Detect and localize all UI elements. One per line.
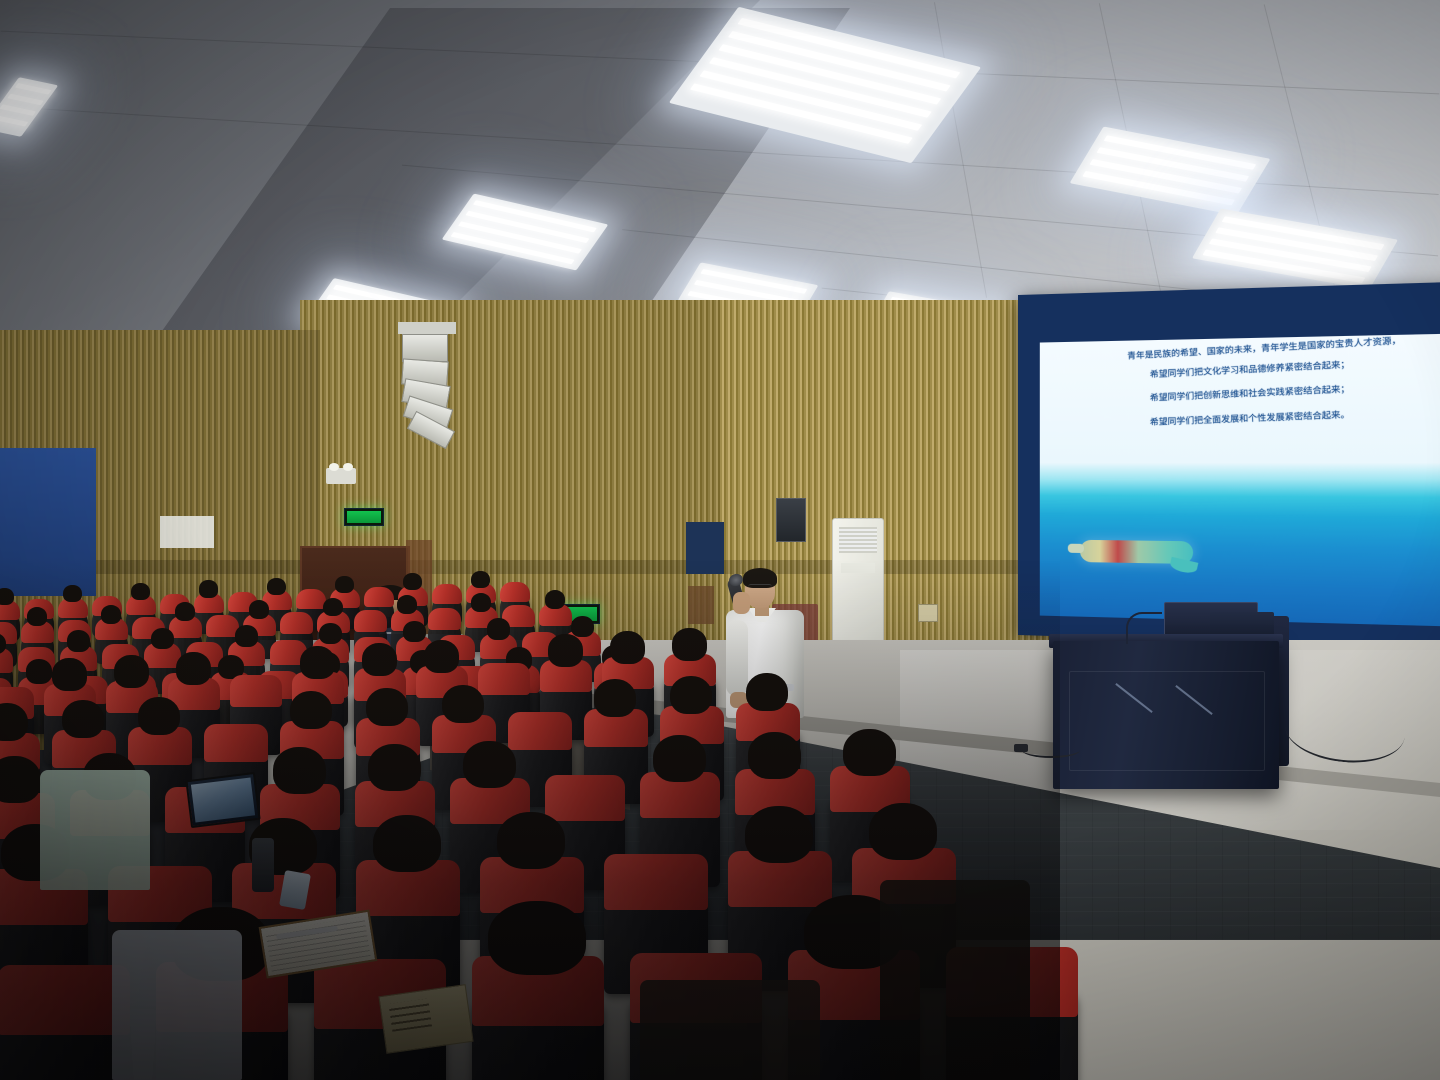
audience-head [235, 625, 258, 647]
audience-head [62, 700, 104, 739]
audience-head [52, 658, 86, 691]
seat-headrest [604, 854, 708, 910]
line-array-loudspeaker [398, 322, 456, 438]
audience-head [548, 634, 582, 667]
seat-headrest [296, 589, 326, 609]
seat-headrest [478, 663, 530, 695]
seat-headrest [432, 584, 462, 604]
audience-body [880, 880, 1030, 1080]
audience-body [40, 770, 150, 890]
audience-head [545, 590, 565, 609]
audience-head [748, 732, 801, 779]
audience-head [368, 744, 421, 791]
seat-headrest [508, 712, 572, 750]
audience-body [112, 930, 242, 1080]
wall-board-blue [0, 448, 96, 596]
audience-head [0, 588, 14, 605]
audience-head [869, 803, 938, 860]
audience-head [138, 697, 180, 736]
booklet [378, 984, 473, 1054]
audience-head [131, 583, 150, 600]
audience-head [362, 643, 396, 676]
audience-head [0, 756, 41, 803]
audience-head [335, 576, 354, 593]
audience-head [373, 815, 442, 872]
audience-head [843, 729, 896, 776]
audience-head [471, 593, 491, 612]
eyeglasses-icon [748, 584, 772, 591]
exit-sign-left [344, 508, 384, 526]
audience-head [403, 621, 426, 643]
attendee-laptop[interactable] [185, 772, 260, 828]
audience-head [249, 600, 269, 619]
audience-head [487, 618, 510, 640]
audience-head [319, 623, 342, 645]
seat-headrest [0, 965, 130, 1035]
seat-headrest [230, 675, 282, 707]
audience-head [653, 735, 706, 782]
audience-head [63, 585, 82, 602]
photo-scene: 青年是民族的希望、国家的未来，青年学生是国家的宝贵人才资源， 希望同学们把文化学… [0, 0, 1440, 1080]
audience-head [273, 747, 326, 794]
water-bottle [252, 838, 274, 892]
audience-head [497, 812, 566, 869]
emergency-light [326, 468, 356, 484]
audience-head [27, 607, 47, 626]
audience-head [26, 659, 52, 683]
slide-line-4: 希望同学们把全面发展和个性发展紧密结合起来。 [1046, 403, 1440, 433]
audience-head [300, 646, 334, 679]
auv-fin [1169, 557, 1198, 575]
audience-head [199, 580, 218, 597]
seat-headrest [428, 608, 461, 630]
wall-panel-display [686, 522, 724, 574]
projection-screen: 青年是民族的希望、国家的未来，青年学生是国家的宝贵人才资源， 希望同学们把文化学… [1018, 281, 1440, 648]
audience-head [151, 628, 174, 650]
audience-head [397, 595, 417, 614]
seat-headrest [364, 587, 394, 607]
audience-head [366, 688, 408, 727]
audience-head [442, 685, 484, 724]
seat-headrest [500, 582, 530, 602]
seat-headrest [204, 724, 268, 762]
audience-head [290, 691, 332, 730]
auv-nose [1068, 544, 1084, 553]
audience-head [610, 631, 644, 664]
slide-text-block: 青年是民族的希望、国家的未来，青年学生是国家的宝贵人才资源， 希望同学们把文化学… [1040, 338, 1440, 427]
audience-head [101, 605, 121, 624]
audience-head [114, 655, 148, 688]
seat-headrest [545, 775, 625, 821]
audience-head [67, 630, 90, 652]
audience-head [463, 741, 516, 788]
audience-head [424, 640, 458, 673]
seat-headrest [280, 612, 313, 634]
audience-head [746, 673, 788, 712]
gooseneck-microphone [1126, 612, 1162, 644]
projection-screen-surface: 青年是民族的希望、国家的未来，青年学生是国家的宝贵人才资源， 希望同学们把文化学… [1040, 334, 1440, 627]
audience-head [267, 578, 286, 595]
audience-head [745, 806, 814, 863]
wall-notice-sign [160, 516, 214, 548]
audience-head [176, 652, 210, 685]
audience-head [323, 598, 343, 617]
wall-control-box[interactable] [776, 498, 806, 542]
audience-head [471, 571, 490, 588]
audience-head [672, 628, 706, 661]
audience-head [488, 901, 586, 975]
audience-head [175, 602, 195, 621]
audience-head [403, 573, 422, 590]
audience-head [594, 679, 636, 718]
wall-outlet [918, 604, 938, 622]
audience-body [640, 980, 820, 1080]
audience-head [670, 676, 712, 715]
seat-headrest [354, 610, 387, 632]
audience-head [571, 616, 594, 638]
